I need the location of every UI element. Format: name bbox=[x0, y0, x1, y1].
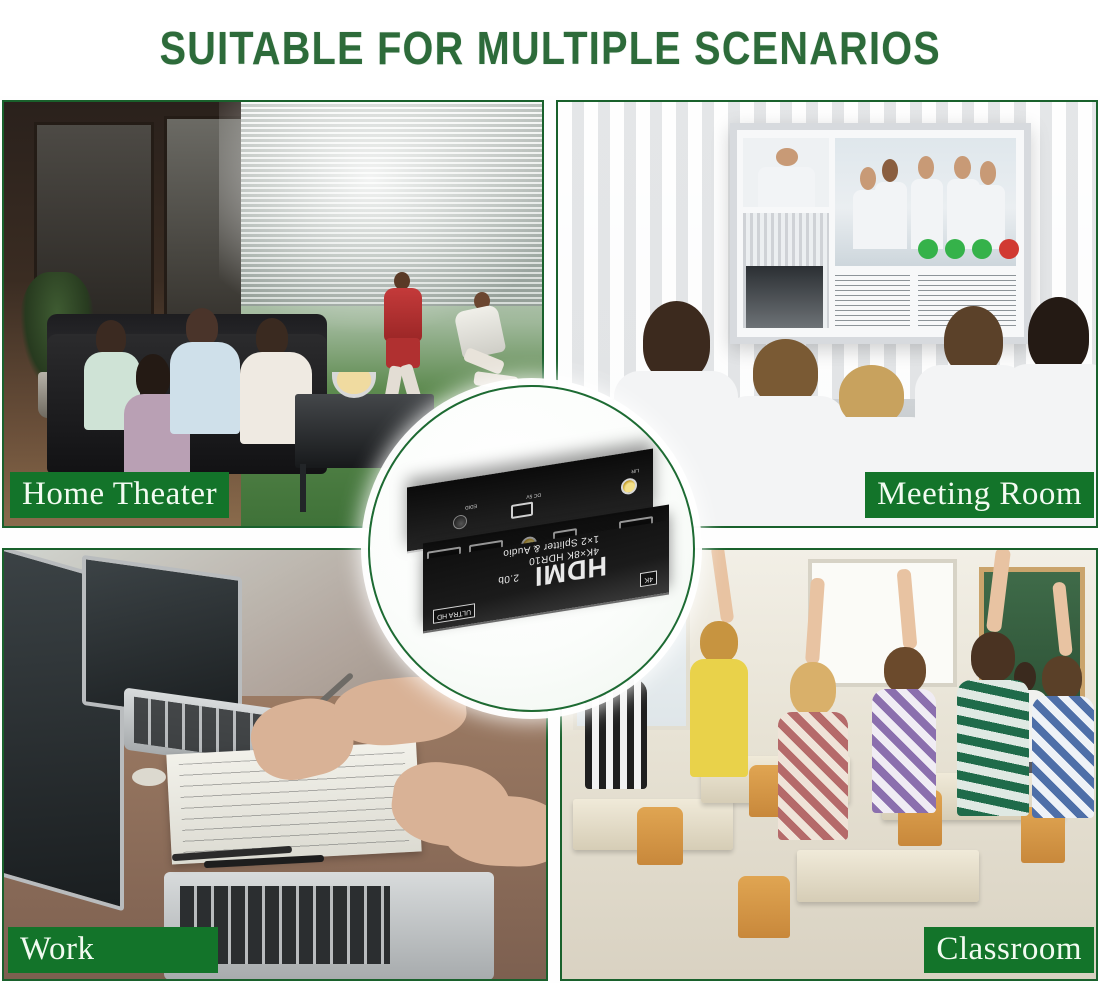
page-title: SUITABLE FOR MULTIPLE SCENARIOS bbox=[159, 21, 940, 75]
label-home-theater: Home Theater bbox=[10, 472, 229, 518]
port-audio-l bbox=[621, 477, 637, 496]
viewer-man-head bbox=[186, 308, 218, 346]
title-bar: SUITABLE FOR MULTIPLE SCENARIOS bbox=[0, 0, 1100, 96]
computer-mouse bbox=[132, 768, 166, 786]
uhd-badge-left: 4K bbox=[640, 571, 657, 587]
student-3 bbox=[776, 644, 850, 844]
label-meeting-room: Meeting Room bbox=[865, 472, 1094, 518]
dental-xray-image bbox=[746, 266, 824, 328]
conference-tile-doctor bbox=[743, 138, 829, 206]
port-edid-switch bbox=[453, 514, 467, 530]
viewer-person4-head bbox=[256, 318, 288, 356]
viewer-man-body bbox=[170, 342, 240, 434]
call-mic-icon[interactable] bbox=[945, 239, 965, 259]
port-power-dc bbox=[511, 502, 533, 519]
call-answer-icon[interactable] bbox=[918, 239, 938, 259]
call-hangup-icon[interactable] bbox=[999, 239, 1019, 259]
viewer-woman-head bbox=[136, 354, 170, 398]
text-list-left bbox=[835, 275, 910, 329]
chair-1 bbox=[637, 807, 683, 865]
desk-4 bbox=[797, 850, 979, 901]
student-6 bbox=[1032, 636, 1094, 826]
student-5 bbox=[957, 610, 1029, 820]
call-control-bar[interactable] bbox=[918, 239, 1019, 259]
product-photo: L/R DC 5V EDID INPUT OPTICAL COAXIAL OUT… bbox=[370, 387, 693, 710]
version-text: 2.0b bbox=[498, 571, 519, 585]
marketing-image: SUITABLE FOR MULTIPLE SCENARIOS bbox=[0, 0, 1100, 983]
uhd-badge-right: ULTRA HD bbox=[433, 604, 475, 624]
product-circle-inset: L/R DC 5V EDID INPUT OPTICAL COAXIAL OUT… bbox=[368, 385, 695, 712]
student-2 bbox=[690, 601, 748, 791]
viewer-child-head bbox=[96, 320, 126, 356]
student-4 bbox=[872, 627, 936, 817]
label-classroom: Classroom bbox=[924, 927, 1094, 973]
call-video-icon[interactable] bbox=[972, 239, 992, 259]
label-work: Work bbox=[8, 927, 218, 973]
conference-video-main bbox=[835, 138, 1016, 266]
chair-4 bbox=[738, 876, 790, 938]
